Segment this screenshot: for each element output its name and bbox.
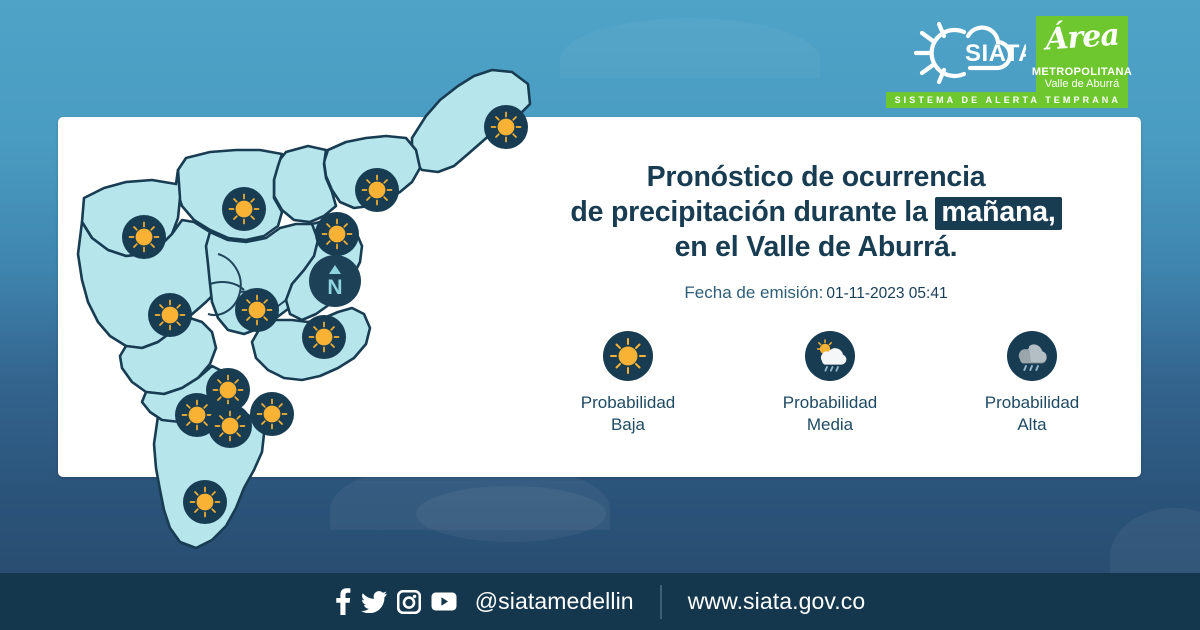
probability-legend: Probabilidad Baja Probabili: [506, 331, 1126, 436]
siata-sun-cloud-icon: SIATA: [906, 16, 1026, 90]
legend-label-line2: Media: [783, 414, 878, 436]
logo-group: SIATA Área METROPOLITANA Valle de Aburrá: [906, 16, 1128, 94]
title-line-3: en el Valle de Aburrá.: [506, 230, 1126, 265]
title-line-1: Pronóstico de ocurrencia: [506, 160, 1126, 195]
legend-label-line1: Probabilidad: [985, 392, 1080, 414]
tagline-bar: SISTEMA DE ALERTA TEMPRANA: [886, 92, 1128, 108]
legend-label-baja: Probabilidad Baja: [581, 392, 676, 436]
sun-icon: [603, 331, 653, 381]
social-icons: [335, 588, 457, 615]
youtube-icon[interactable]: [431, 592, 457, 611]
legend-label-line2: Baja: [581, 414, 676, 436]
twitter-icon[interactable]: [361, 591, 387, 613]
facebook-icon[interactable]: [335, 588, 351, 615]
instagram-icon[interactable]: [397, 590, 421, 614]
legend-item-media: Probabilidad Media: [755, 331, 905, 436]
sun-rain-cloud-icon: [805, 331, 855, 381]
title-line-2: de precipitación durante la mañana,: [506, 195, 1126, 230]
legend-item-alta: Probabilidad Alta: [957, 331, 1107, 436]
legend-item-baja: Probabilidad Baja: [553, 331, 703, 436]
legend-label-media: Probabilidad Media: [783, 392, 878, 436]
issue-date-value: 01-11-2023 05:41: [826, 285, 947, 302]
decorative-cloud-icon: [560, 18, 820, 78]
decorative-cloud-icon: [1110, 508, 1200, 578]
svg-text:SIATA: SIATA: [965, 40, 1026, 67]
rain-cloud-icon: [1007, 331, 1057, 381]
website-url[interactable]: www.siata.gov.co: [688, 588, 866, 615]
legend-label-alta: Probabilidad Alta: [985, 392, 1080, 436]
legend-label-line1: Probabilidad: [581, 392, 676, 414]
title-line-2-text: de precipitación durante la: [570, 196, 927, 228]
decorative-cloud-icon: [416, 486, 606, 542]
issue-date-label: Fecha de emisión:: [684, 283, 823, 302]
forecast-panel: Pronóstico de ocurrencia de precipitació…: [506, 160, 1126, 436]
highlight-badge: mañana,: [935, 197, 1061, 230]
area-metropolitana-line1: METROPOLITANA: [1032, 66, 1132, 78]
legend-label-line2: Alta: [985, 414, 1080, 436]
legend-label-line1: Probabilidad: [783, 392, 878, 414]
social-handle[interactable]: @siatamedellin: [475, 588, 634, 615]
area-metropolitana-logo: Área METROPOLITANA Valle de Aburrá: [1036, 16, 1128, 94]
footer-bar: @siatamedellin www.siata.gov.co: [0, 573, 1200, 630]
issue-date: Fecha de emisión:01-11-2023 05:41: [506, 283, 1126, 303]
area-metropolitana-line2: Valle de Aburrá: [1045, 78, 1119, 90]
siata-logo: SIATA: [906, 16, 1026, 90]
page-title: Pronóstico de ocurrencia de precipitació…: [506, 160, 1126, 265]
area-script-text: Área: [1035, 17, 1129, 58]
footer-divider: [660, 585, 662, 619]
